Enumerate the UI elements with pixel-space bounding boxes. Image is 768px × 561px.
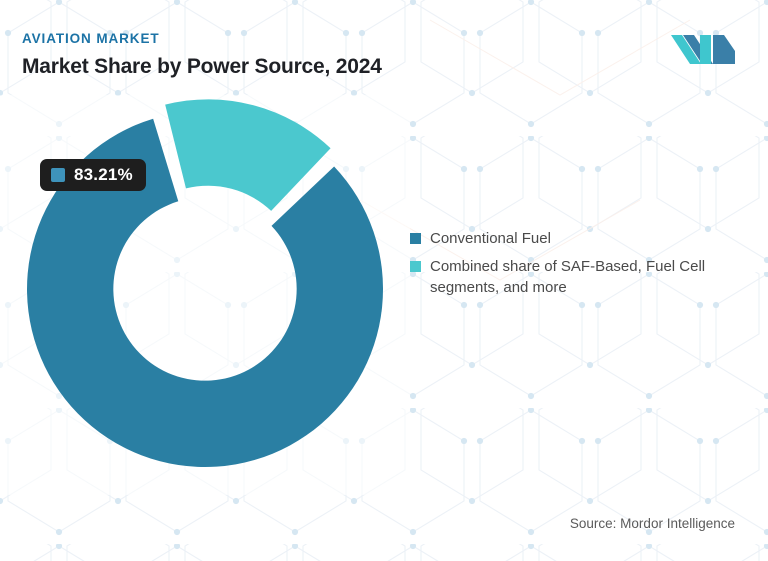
legend-swatch-conventional-fuel [410, 233, 421, 244]
legend-item-conventional-fuel[interactable]: Conventional Fuel [410, 228, 740, 249]
legend-swatch-combined-share [410, 261, 421, 272]
mordor-intelligence-logo-icon [671, 31, 735, 68]
legend-item-combined-share[interactable]: Combined share of SAF-Based, Fuel Cell s… [410, 256, 740, 298]
page-eyebrow: AVIATION MARKET [22, 30, 382, 48]
data-label-value: 83.21% [74, 166, 133, 184]
header: AVIATION MARKET Market Share by Power So… [22, 30, 382, 81]
legend-label-combined-share: Combined share of SAF-Based, Fuel Cell s… [430, 256, 720, 298]
source-attribution: Source: Mordor Intelligence [570, 515, 735, 533]
data-label-tooltip: 83.21% [40, 159, 146, 191]
donut-chart[interactable] [0, 95, 410, 495]
legend-label-conventional-fuel: Conventional Fuel [430, 228, 551, 249]
data-label-swatch [51, 168, 65, 182]
page-title: Market Share by Power Source, 2024 [22, 53, 382, 81]
chart-page: AVIATION MARKET Market Share by Power So… [0, 0, 768, 561]
chart-legend: Conventional Fuel Combined share of SAF-… [410, 228, 740, 305]
